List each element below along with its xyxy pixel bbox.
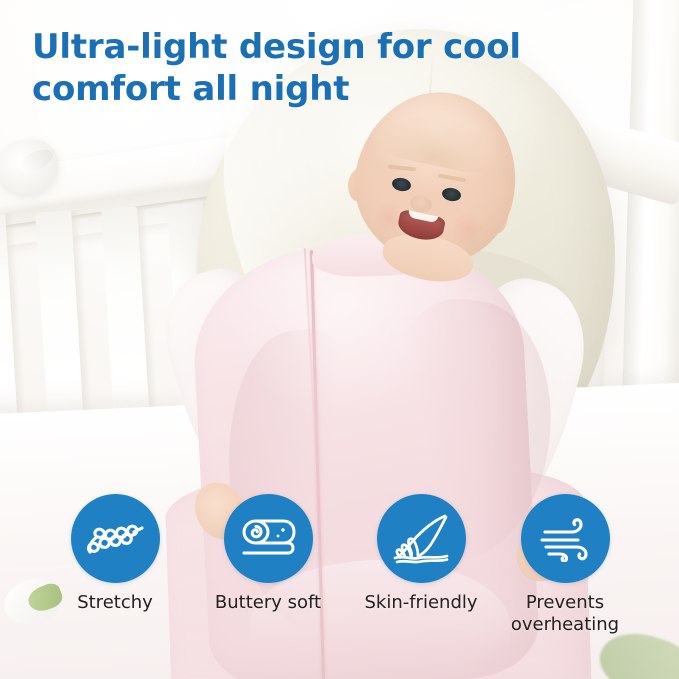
badge-circle xyxy=(224,494,313,583)
feature-label: Skin-friendly xyxy=(364,592,477,614)
feature-label: Buttery soft xyxy=(215,592,321,614)
feature-item-buttery-soft[interactable]: Buttery soft xyxy=(192,494,344,614)
baby-cheek-right xyxy=(450,214,486,244)
feature-label: Prevents overheating xyxy=(511,592,619,636)
page-title: Ultra-light design for cool comfort all … xyxy=(32,26,572,110)
feature-item-prevents-overheating[interactable]: Prevents overheating xyxy=(489,494,641,636)
feature-item-stretchy[interactable]: Stretchy xyxy=(39,494,191,614)
badge-circle xyxy=(71,494,160,583)
feature-label: Stretchy xyxy=(77,592,153,614)
spring-coil-icon xyxy=(84,519,146,559)
feature-item-skin-friendly[interactable]: Skin-friendly xyxy=(345,494,497,614)
product-feature-banner: Ultra-light design for cool comfort all … xyxy=(0,0,679,679)
airflow-wind-icon xyxy=(536,516,594,562)
feature-list: Stretchy Buttery soft xyxy=(0,494,679,664)
badge-circle xyxy=(377,494,466,583)
badge-circle xyxy=(521,494,610,583)
hand-touch-fabric-icon xyxy=(391,513,451,565)
rolled-fabric-icon xyxy=(239,516,297,562)
